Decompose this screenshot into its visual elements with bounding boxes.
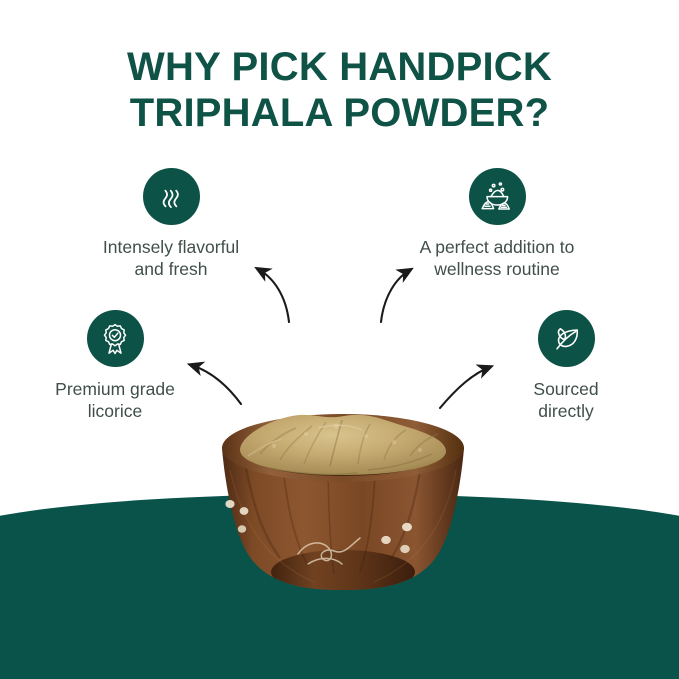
award-ribbon-icon [98, 322, 132, 356]
feature-premium-grade: Premium grade licorice [10, 310, 220, 423]
feature-label: A perfect addition to wellness routine [392, 236, 602, 281]
leaves-icon [549, 322, 583, 356]
infographic-canvas: WHY PICK HANDPICK TRIPHALA POWDER? [0, 0, 679, 679]
feature-icon-badge [143, 168, 200, 225]
bowl-illustration [208, 412, 478, 607]
powder-bowl-icon [479, 179, 515, 215]
feature-icon-badge [87, 310, 144, 367]
aroma-waves-icon [154, 180, 188, 214]
feature-icon-badge [538, 310, 595, 367]
feature-icon-badge [469, 168, 526, 225]
triphala-powder-bowl [208, 412, 478, 607]
feature-label: Premium grade licorice [10, 378, 220, 423]
feature-label: Sourced directly [461, 378, 671, 423]
page-title: WHY PICK HANDPICK TRIPHALA POWDER? [0, 44, 679, 137]
feature-wellness-routine: A perfect addition to wellness routine [392, 168, 602, 281]
feature-sourced-directly: Sourced directly [461, 310, 671, 423]
feature-intensely-flavorful: Intensely flavorful and fresh [66, 168, 276, 281]
feature-label: Intensely flavorful and fresh [66, 236, 276, 281]
